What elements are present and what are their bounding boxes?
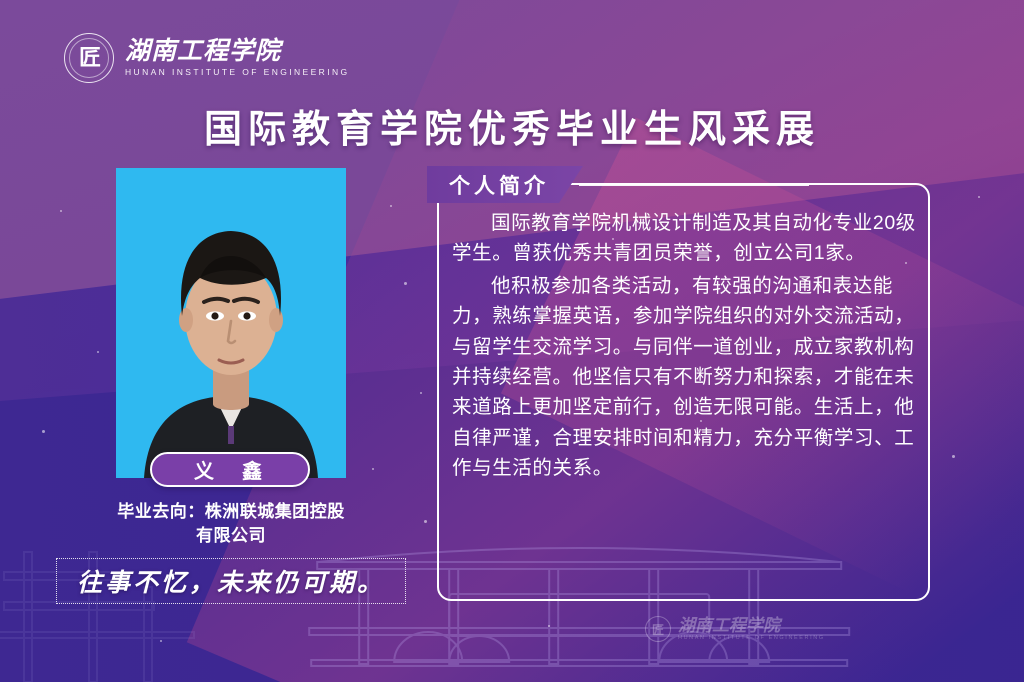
destination-text: 毕业去向：株洲联城集团控股 有限公司 — [117, 502, 345, 545]
profile-body: 国际教育学院机械设计制造及其自动化专业20级学生。曾获优秀共青团员荣誉，创立公司… — [452, 208, 922, 486]
profile-section-header: 个人简介 — [427, 166, 809, 203]
institution-name-cn: 湖南工程学院 — [125, 39, 350, 65]
footer-watermark: 匠 湖南工程学院 HUNAN INSTITUTE OF ENGINEERING — [645, 616, 825, 642]
student-photo — [116, 168, 346, 478]
watermark-name-block: 湖南工程学院 HUNAN INSTITUTE OF ENGINEERING — [678, 617, 825, 641]
student-name-badge: 义 鑫 — [150, 452, 310, 487]
page-title: 国际教育学院优秀毕业生风采展 — [0, 98, 1024, 153]
seal-monogram: 匠 — [79, 47, 99, 69]
watermark-seal-icon: 匠 — [645, 616, 671, 642]
graduation-destination: 毕业去向：株洲联城集团控股 有限公司 — [56, 500, 406, 548]
profile-header-rule — [579, 183, 809, 186]
student-quote-text: 往事不忆，未来仍可期。 — [77, 563, 385, 599]
student-quote-box: 往事不忆，未来仍可期。 — [56, 558, 406, 604]
poster-canvas: 匠 湖南工程学院 HUNAN INSTITUTE OF ENGINEERING … — [0, 0, 1024, 682]
institution-name-block: 湖南工程学院 HUNAN INSTITUTE OF ENGINEERING — [125, 39, 350, 77]
profile-paragraph-1: 国际教育学院机械设计制造及其自动化专业20级学生。曾获优秀共青团员荣誉，创立公司… — [452, 208, 922, 269]
profile-section-label: 个人简介 — [427, 166, 583, 203]
campus-gate-line-art-left — [0, 532, 414, 682]
watermark-name-en: HUNAN INSTITUTE OF ENGINEERING — [678, 635, 825, 641]
watermark-name-cn: 湖南工程学院 — [678, 617, 825, 634]
institution-logo: 匠 湖南工程学院 HUNAN INSTITUTE OF ENGINEERING — [64, 33, 350, 83]
profile-paragraph-2: 他积极参加各类活动，有较强的沟通和表达能力，熟练掌握英语，参加学院组织的对外交流… — [452, 271, 922, 484]
institution-name-en: HUNAN INSTITUTE OF ENGINEERING — [125, 67, 350, 77]
portrait-illustration — [116, 168, 346, 478]
university-seal-icon: 匠 — [64, 33, 114, 83]
